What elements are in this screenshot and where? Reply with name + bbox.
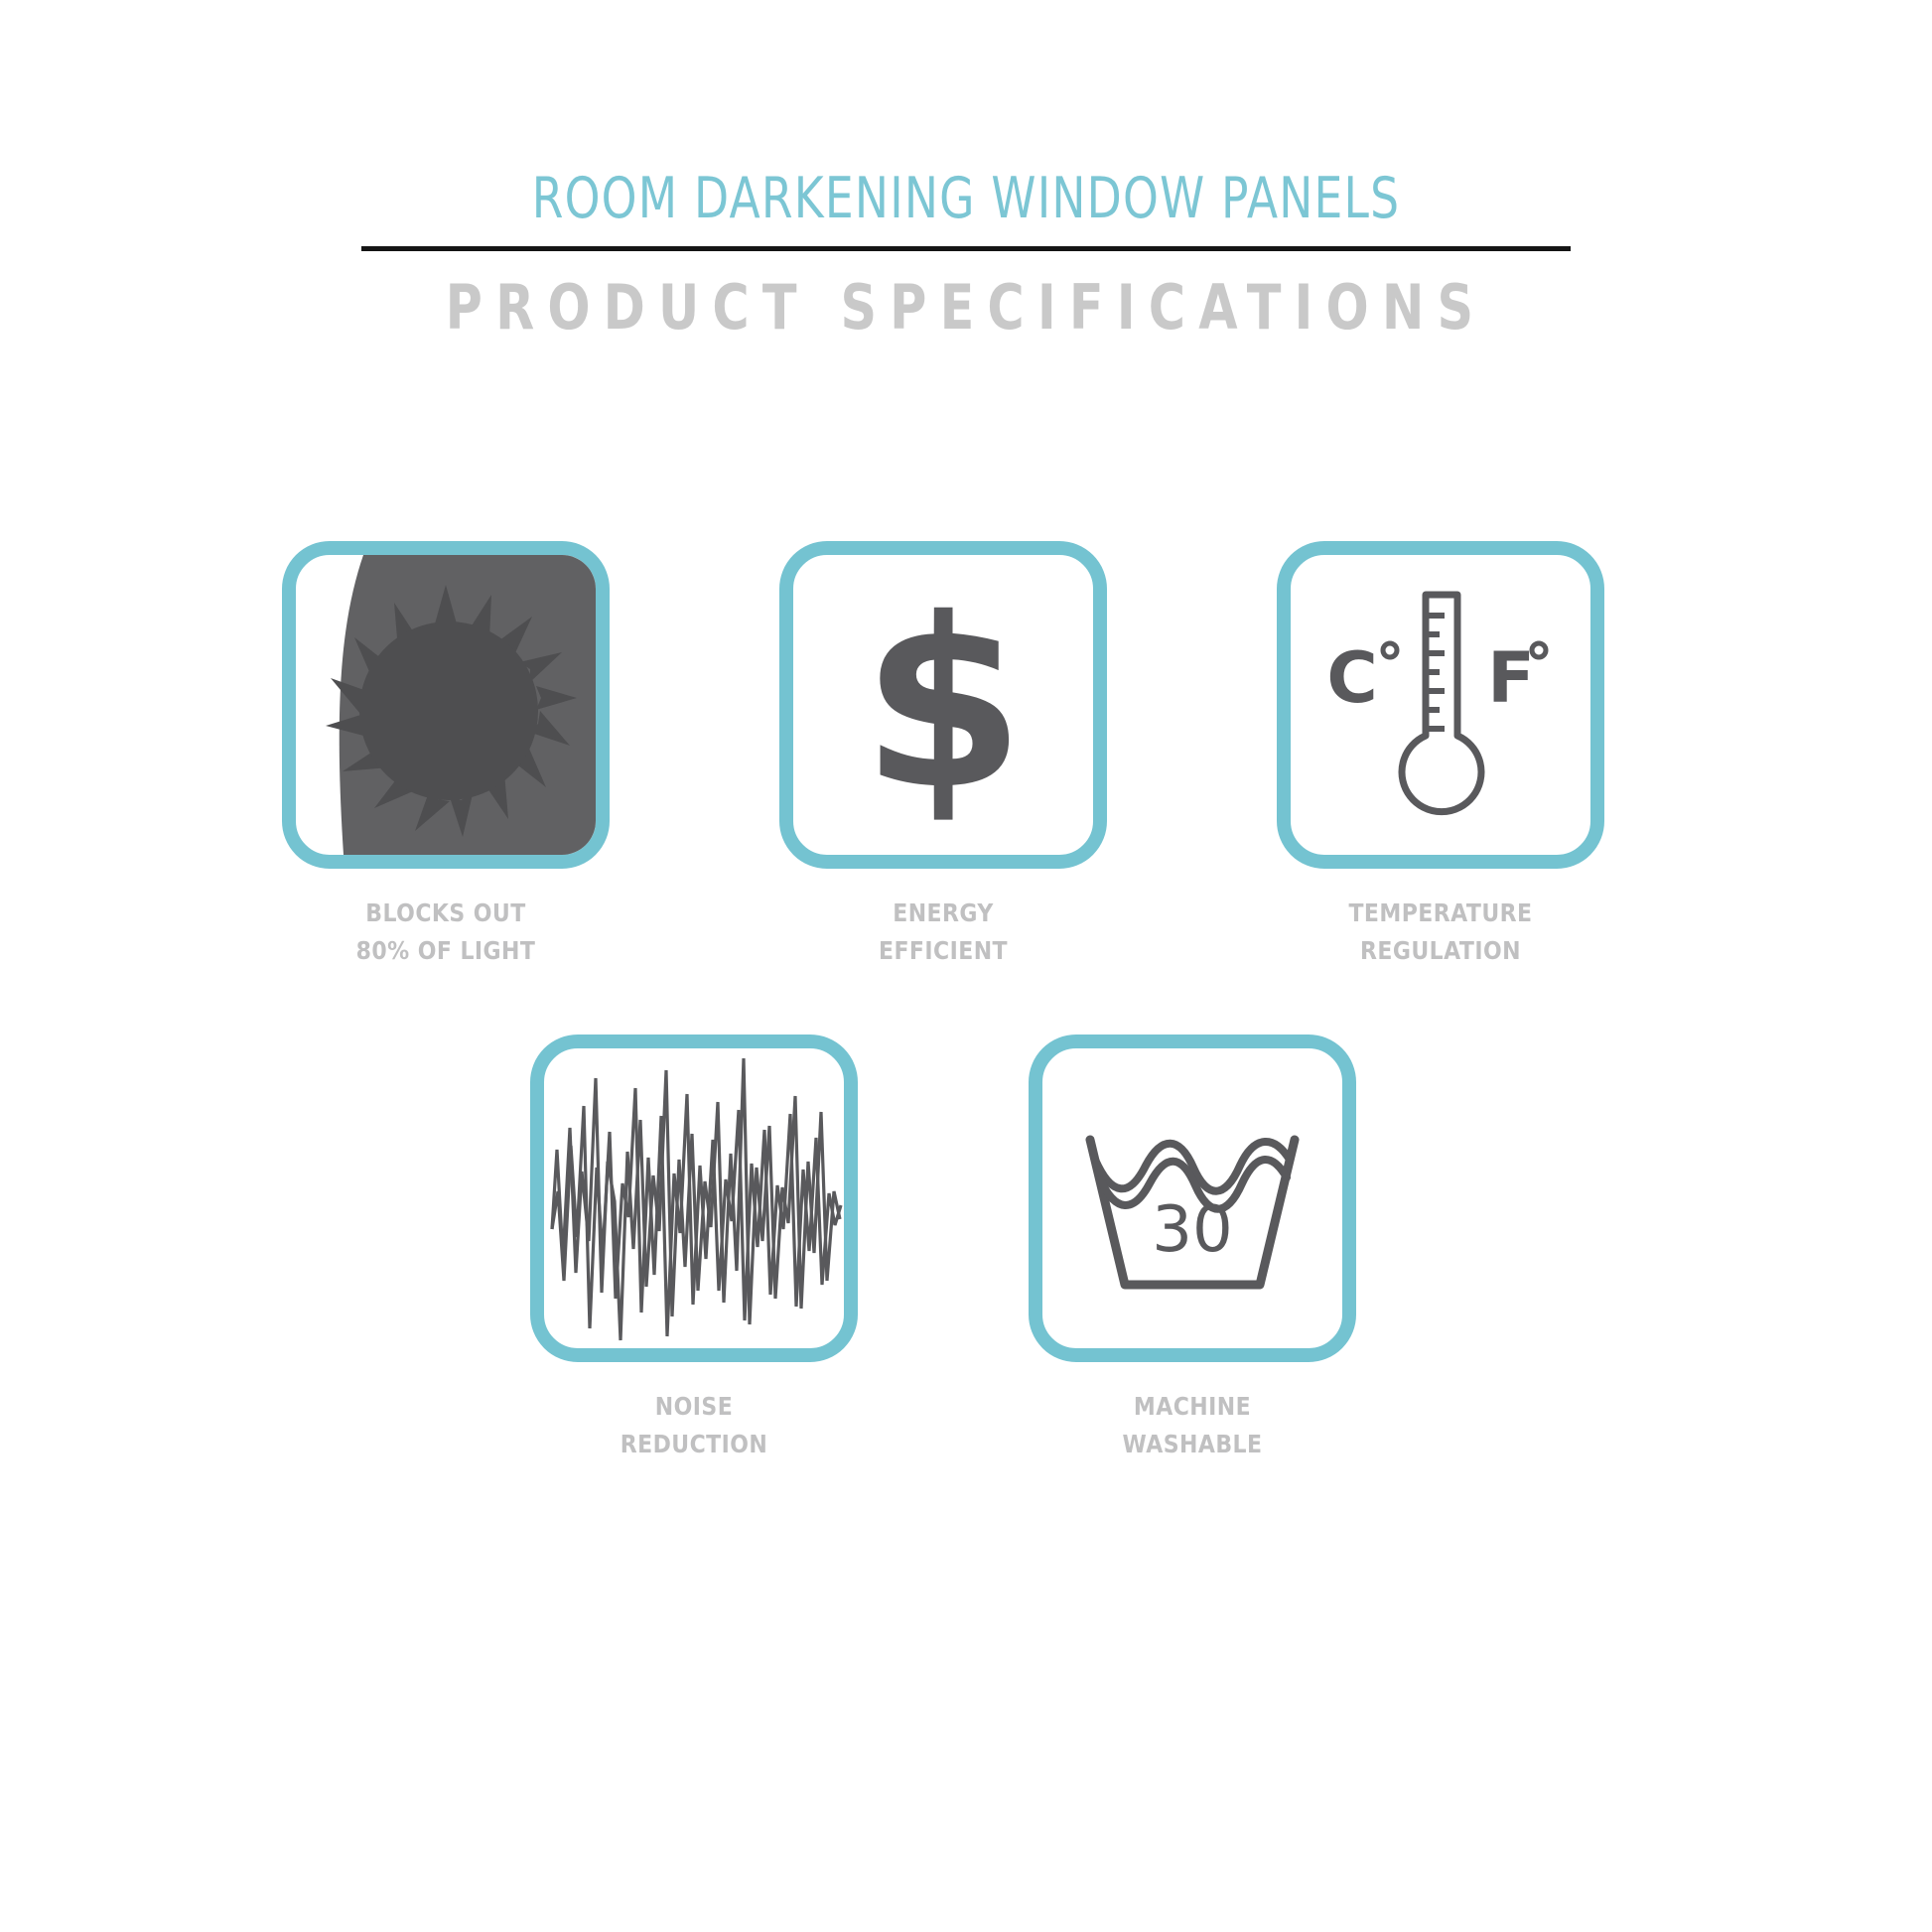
spec-tile: C F: [1277, 541, 1604, 869]
spec-item-noise-reduction[interactable]: NOISE REDUCTION: [530, 1035, 858, 1463]
spec-item-temperature[interactable]: C F TEMPERATURE REGULATION: [1277, 541, 1604, 970]
tile-clip: $: [793, 555, 1093, 855]
thermometer-icon: C F: [1291, 555, 1590, 855]
tile-clip: 30: [1042, 1048, 1342, 1348]
spec-tile: [282, 541, 610, 869]
wash-tub-icon: 30: [1042, 1048, 1342, 1348]
caption-line-2: 80% OF LIGHT: [302, 932, 590, 970]
caption-line-2: EFFICIENT: [799, 932, 1087, 970]
spec-tile: [530, 1035, 858, 1362]
spec-item-energy-efficient[interactable]: $ ENERGY EFFICIENT: [779, 541, 1107, 970]
caption-line-1: MACHINE: [1048, 1388, 1336, 1426]
caption-line-1: TEMPERATURE: [1297, 895, 1585, 932]
caption-line-2: REGULATION: [1297, 932, 1585, 970]
celsius-label: C: [1326, 637, 1377, 719]
spec-caption: TEMPERATURE REGULATION: [1297, 895, 1585, 970]
tile-clip: [296, 555, 596, 855]
tile-clip: C F: [1291, 555, 1590, 855]
caption-line-1: BLOCKS OUT: [302, 895, 590, 932]
spec-caption: NOISE REDUCTION: [550, 1388, 838, 1463]
spec-item-blocks-light[interactable]: BLOCKS OUT 80% OF LIGHT: [282, 541, 610, 970]
spec-caption: BLOCKS OUT 80% OF LIGHT: [302, 895, 590, 970]
wash-temperature-label: 30: [1152, 1193, 1232, 1267]
spec-tile: $: [779, 541, 1107, 869]
caption-line-2: REDUCTION: [550, 1426, 838, 1463]
blocked-sun-icon: [296, 555, 596, 855]
svg-text:$: $: [862, 568, 1025, 841]
spec-grid: BLOCKS OUT 80% OF LIGHT $ ENERGY EFFICIE…: [0, 0, 1932, 1932]
caption-line-2: WASHABLE: [1048, 1426, 1336, 1463]
caption-line-1: ENERGY: [799, 895, 1087, 932]
infographic-page: ROOM DARKENING WINDOW PANELS PRODUCT SPE…: [0, 0, 1932, 1932]
spec-caption: ENERGY EFFICIENT: [799, 895, 1087, 970]
sound-waveform-icon: [544, 1042, 844, 1370]
tile-clip: [544, 1048, 844, 1348]
caption-line-1: NOISE: [550, 1388, 838, 1426]
spec-tile: 30: [1029, 1035, 1356, 1362]
fahrenheit-label: F: [1487, 637, 1535, 719]
spec-item-machine-washable[interactable]: 30 MACHINE WASHABLE: [1029, 1035, 1356, 1463]
spec-caption: MACHINE WASHABLE: [1048, 1388, 1336, 1463]
dollar-sign-icon: $: [793, 555, 1093, 855]
